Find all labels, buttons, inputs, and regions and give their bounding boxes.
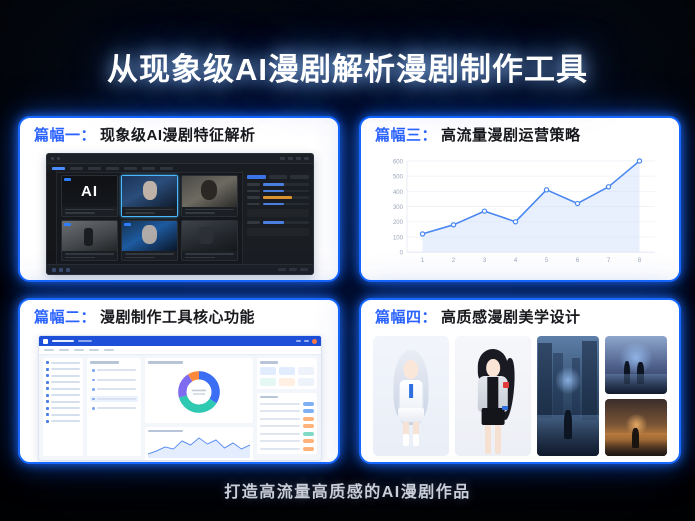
quick-action-button[interactable] xyxy=(279,367,295,375)
card-four-headline: 高质感漫剧美学设计 xyxy=(441,306,581,327)
svg-text:400: 400 xyxy=(393,190,404,196)
status-icon xyxy=(66,268,70,272)
quick-actions-card xyxy=(257,358,317,389)
dashboard-breadcrumb-placeholder xyxy=(78,340,92,342)
editor-properties-panel xyxy=(242,171,313,265)
svg-text:8: 8 xyxy=(638,258,642,264)
donut-chart xyxy=(148,364,250,420)
topbar-action xyxy=(296,340,301,342)
video-editor-preview: AI xyxy=(46,153,314,275)
svg-text:1: 1 xyxy=(421,258,425,264)
editor-tab xyxy=(142,167,155,170)
thumbnail-caption xyxy=(182,207,237,216)
dashboard-sidebar xyxy=(43,358,83,456)
status-pill xyxy=(300,268,308,271)
thumbnail-image xyxy=(182,221,237,252)
app-logo-icon xyxy=(43,339,48,344)
thumbnail-caption xyxy=(182,251,237,260)
card-two-header: 篇幅二： 漫剧制作工具核心功能 xyxy=(20,300,338,333)
sidebar-item[interactable] xyxy=(46,381,80,384)
svg-text:6: 6 xyxy=(576,258,580,264)
list-item[interactable] xyxy=(90,406,138,412)
recent-table-title xyxy=(260,396,278,399)
thumbnail-caption xyxy=(62,207,117,216)
window-dot-icon xyxy=(57,157,60,160)
properties-tab[interactable] xyxy=(290,175,309,179)
dashboard-list-panel xyxy=(87,358,141,456)
media-thumbnail[interactable] xyxy=(121,220,178,262)
character-accent xyxy=(409,384,413,398)
editor-statusbar xyxy=(47,264,313,274)
thumbnail-ai-label: AI xyxy=(81,184,98,199)
card-three-kicker: 篇幅三： xyxy=(375,124,437,145)
character-inner-top xyxy=(487,377,498,408)
character-shoe xyxy=(403,434,409,446)
dashboard-body xyxy=(39,354,321,460)
property-block xyxy=(247,209,309,217)
character-accent xyxy=(502,406,508,411)
card-four-header: 篇幅四： 高质感漫剧美学设计 xyxy=(361,300,679,333)
titlebar-button xyxy=(280,157,285,160)
dashboard-title-placeholder xyxy=(52,340,74,343)
toolbar-item xyxy=(44,349,54,351)
toolbar-item xyxy=(104,349,114,351)
property-block xyxy=(247,228,309,236)
card-four-body xyxy=(361,333,679,462)
backlight-glow xyxy=(617,343,654,373)
dashboard-topbar xyxy=(39,336,321,346)
quick-action-button[interactable] xyxy=(260,367,276,375)
recent-table-card xyxy=(257,393,317,454)
list-item[interactable] xyxy=(90,377,138,383)
sidebar-item[interactable] xyxy=(46,400,80,403)
dashboard-main-column xyxy=(145,358,253,456)
svg-text:5: 5 xyxy=(545,258,549,264)
donut-chart-card xyxy=(145,358,253,423)
svg-text:4: 4 xyxy=(514,258,518,264)
art-gallery xyxy=(373,336,667,456)
editor-tab xyxy=(106,167,119,170)
character-leg xyxy=(485,422,491,453)
svg-text:7: 7 xyxy=(607,258,611,264)
quick-action-button[interactable] xyxy=(298,367,314,375)
character-shoe xyxy=(413,434,419,446)
card-one-headline: 现象级AI漫剧特征解析 xyxy=(100,124,256,145)
table-row xyxy=(260,409,314,413)
editor-tab xyxy=(124,167,137,170)
thumbnail-caption xyxy=(122,207,177,216)
sidebar-item[interactable] xyxy=(46,420,80,423)
sidebar-item[interactable] xyxy=(46,368,80,371)
silhouette-figure xyxy=(632,428,639,448)
donut-svg xyxy=(172,367,226,417)
svg-text:200: 200 xyxy=(393,220,404,226)
property-row xyxy=(247,221,309,224)
properties-tab[interactable] xyxy=(247,175,266,179)
slide-root: 从现象级AI漫剧解析漫剧制作工具 篇幅一： 现象级AI漫剧特征解析 xyxy=(0,0,695,521)
card-one-body: AI xyxy=(20,151,338,280)
quick-action-button[interactable] xyxy=(298,378,314,386)
editor-tab xyxy=(160,167,173,170)
properties-tabs[interactable] xyxy=(247,175,309,179)
table-row xyxy=(260,424,314,428)
thumbnail-badge xyxy=(64,223,71,226)
media-thumbnail-grid: AI xyxy=(57,171,242,265)
media-thumbnail[interactable] xyxy=(61,220,118,262)
card-section-one[interactable]: 篇幅一： 现象级AI漫剧特征解析 xyxy=(18,116,340,282)
property-row xyxy=(247,190,309,193)
topbar-action xyxy=(304,340,309,342)
property-row xyxy=(247,203,309,206)
mini-area-chart xyxy=(148,432,250,458)
character-face xyxy=(486,359,500,377)
dashboard-preview xyxy=(38,335,322,461)
list-item[interactable] xyxy=(90,387,138,393)
media-thumbnail-selected[interactable] xyxy=(121,175,178,217)
thumbnail-image xyxy=(182,176,237,207)
character-skirt xyxy=(398,408,424,422)
card-grid: 篇幅一： 现象级AI漫剧特征解析 xyxy=(18,116,677,460)
character-render-black[interactable] xyxy=(455,336,531,456)
titlebar-button xyxy=(296,157,301,160)
svg-text:500: 500 xyxy=(393,175,404,181)
thumbnail-badge xyxy=(64,178,71,181)
card-four-kicker: 篇幅四： xyxy=(375,306,437,327)
thumbnail-badge xyxy=(124,223,131,226)
titlebar-button xyxy=(288,157,293,160)
sidebar-item[interactable] xyxy=(46,374,80,377)
thumbnail-caption xyxy=(62,251,117,260)
property-row xyxy=(247,183,309,186)
titlebar-button xyxy=(304,157,309,160)
editor-tab xyxy=(70,167,83,170)
building xyxy=(582,341,597,420)
status-pill xyxy=(278,268,286,271)
svg-text:3: 3 xyxy=(483,258,487,264)
thumbnail-image xyxy=(122,176,177,207)
character-shorts xyxy=(482,408,505,425)
sidebar-item[interactable] xyxy=(46,413,80,416)
card-two-body xyxy=(20,333,338,462)
property-row xyxy=(247,196,309,199)
editor-titlebar-actions xyxy=(280,157,309,160)
page-title: 从现象级AI漫剧解析漫剧制作工具 xyxy=(0,44,695,89)
window-dot-icon xyxy=(51,157,54,160)
toolbar-item xyxy=(74,349,84,351)
card-three-header: 篇幅三： 高流量漫剧运营策略 xyxy=(361,118,679,151)
editor-tab xyxy=(88,167,101,170)
editor-main: AI xyxy=(47,171,313,265)
editor-titlebar xyxy=(47,154,313,164)
table-row xyxy=(260,439,314,443)
character-patch xyxy=(503,382,509,388)
card-section-two[interactable]: 篇幅二： 漫剧制作工具核心功能 xyxy=(18,298,340,464)
line-chart-svg: 010020030040050060012345678 xyxy=(377,155,663,272)
quick-actions-grid[interactable] xyxy=(260,367,314,386)
editor-left-rail xyxy=(47,171,57,265)
quick-action-button[interactable] xyxy=(279,378,295,386)
character-leg xyxy=(495,422,501,453)
status-icon xyxy=(59,268,63,272)
area-chart-card xyxy=(145,427,253,462)
table-row xyxy=(260,447,314,451)
dashboard-right-column xyxy=(257,358,317,456)
quick-action-button[interactable] xyxy=(260,378,276,386)
toolbar-item xyxy=(89,349,99,351)
sky-glow xyxy=(556,365,581,396)
table-row xyxy=(260,402,314,406)
card-two-kicker: 篇幅二： xyxy=(34,306,96,327)
traffic-line-chart: 010020030040050060012345678 xyxy=(377,155,663,272)
scene-tunnel-light[interactable] xyxy=(605,336,667,394)
svg-text:300: 300 xyxy=(393,205,404,211)
editor-tab xyxy=(52,167,65,170)
scene-stack xyxy=(605,336,667,456)
card-three-headline: 高流量漫剧运营策略 xyxy=(441,124,581,145)
building xyxy=(538,343,552,417)
media-thumbnail[interactable] xyxy=(181,175,238,217)
card-one-header: 篇幅一： 现象级AI漫剧特征解析 xyxy=(20,118,338,151)
card-two-headline: 漫剧制作工具核心功能 xyxy=(100,306,255,327)
svg-text:100: 100 xyxy=(393,235,404,241)
dashboard-topbar-actions xyxy=(296,339,317,344)
character-render-white[interactable] xyxy=(373,336,449,456)
svg-text:0: 0 xyxy=(400,251,404,257)
toolbar-item xyxy=(59,349,69,351)
scene-corridor-warm[interactable] xyxy=(605,399,667,457)
card-one-kicker: 篇幅一： xyxy=(34,124,96,145)
svg-text:600: 600 xyxy=(393,159,404,165)
footer-tagline: 打造高流量高质感的AI漫剧作品 xyxy=(0,478,695,502)
properties-tab[interactable] xyxy=(269,175,288,179)
status-icon xyxy=(52,268,56,272)
table-row xyxy=(260,417,314,421)
statusbar-actions xyxy=(278,268,308,271)
scene-city-street[interactable] xyxy=(537,336,599,456)
silhouette-figure xyxy=(564,410,571,439)
sidebar-item[interactable] xyxy=(46,361,80,364)
table-row xyxy=(260,432,314,436)
sidebar-item[interactable] xyxy=(46,387,80,390)
card-section-four[interactable]: 篇幅四： 高质感漫剧美学设计 xyxy=(359,298,681,464)
sidebar-item[interactable] xyxy=(46,407,80,410)
media-thumbnail[interactable] xyxy=(181,220,238,262)
list-item-selected[interactable] xyxy=(90,396,138,402)
quick-actions-title xyxy=(260,361,278,364)
sidebar-item[interactable] xyxy=(46,394,80,397)
media-thumbnail[interactable]: AI xyxy=(61,175,118,217)
card-three-body: 010020030040050060012345678 xyxy=(361,151,679,280)
scene-ground xyxy=(605,374,667,394)
status-pill xyxy=(289,268,297,271)
avatar xyxy=(312,339,317,344)
card-section-three[interactable]: 篇幅三： 高流量漫剧运营策略 0100200300400500600123456… xyxy=(359,116,681,282)
list-item[interactable] xyxy=(90,368,138,374)
svg-text:2: 2 xyxy=(452,258,456,264)
thumbnail-caption xyxy=(122,251,177,260)
list-panel-header xyxy=(90,361,119,364)
